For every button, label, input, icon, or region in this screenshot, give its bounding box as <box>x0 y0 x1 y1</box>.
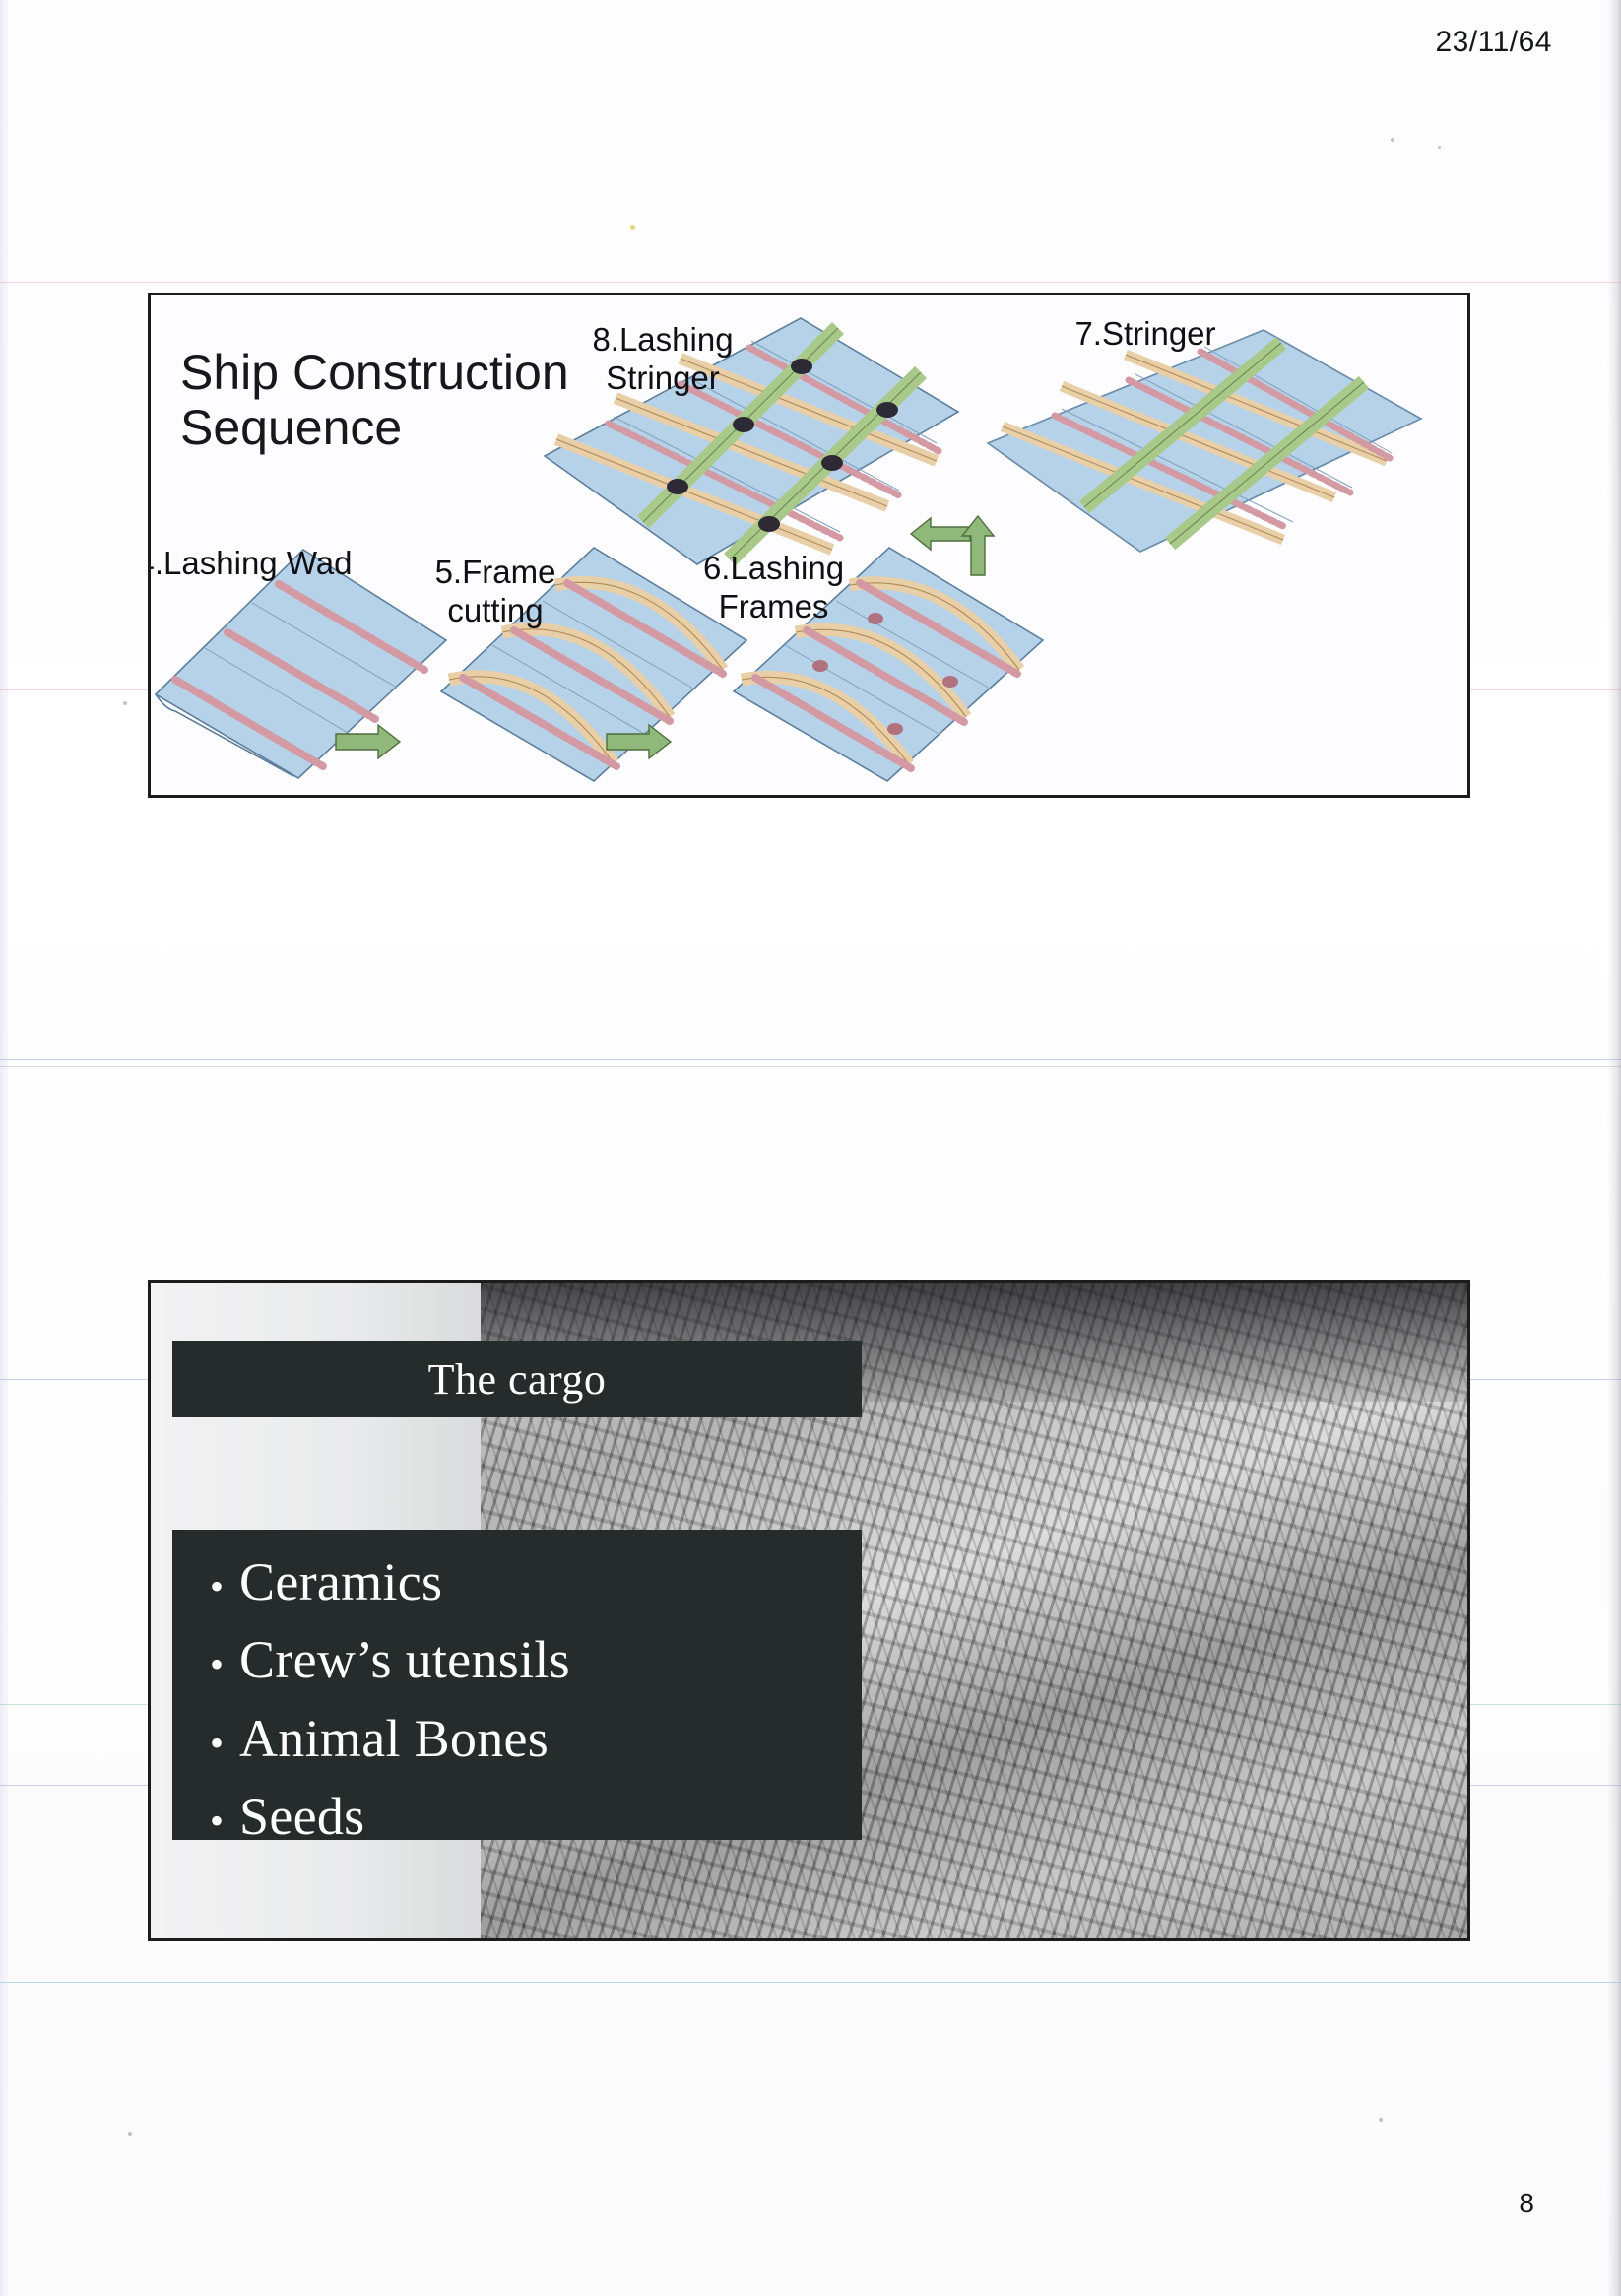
list-item: • Seeds <box>172 1782 862 1852</box>
list-item-label: Ceramics <box>239 1547 442 1617</box>
scanned-page: 23/11/64 Ship Construction Sequence <box>0 0 1621 2296</box>
slide-title-bar: The cargo <box>172 1341 862 1417</box>
date-stamp: 23/11/64 <box>1435 26 1552 59</box>
list-item-label: Seeds <box>239 1782 364 1852</box>
scan-speck <box>1438 146 1441 149</box>
bullet-icon: • <box>194 1645 239 1684</box>
guide-line <box>0 1982 1621 1983</box>
list-item: • Crew’s utensils <box>172 1625 862 1695</box>
arrow-right-icon <box>604 721 673 762</box>
step-label-7: 7.Stringer <box>1042 315 1249 354</box>
guide-line <box>0 282 1621 283</box>
arrow-right-icon <box>333 721 402 762</box>
cargo-bullet-list: • Ceramics • Crew’s utensils • Animal Bo… <box>172 1530 862 1840</box>
guide-line <box>0 1066 1621 1067</box>
bullet-icon: • <box>194 1802 239 1841</box>
page-number: 8 <box>1519 2188 1534 2219</box>
scan-speck <box>1391 138 1394 142</box>
bullet-icon: • <box>194 1567 239 1607</box>
step-label-6: 6.Lashing Frames <box>663 550 884 626</box>
list-item: • Ceramics <box>172 1547 862 1617</box>
scan-speck <box>630 225 635 230</box>
page-edge-right <box>1607 0 1621 2296</box>
bullet-icon: • <box>194 1724 239 1763</box>
scan-speck <box>123 701 127 705</box>
slide-ship-construction-sequence: Ship Construction Sequence <box>148 293 1470 798</box>
slide-title: The cargo <box>428 1354 607 1405</box>
scan-speck <box>1379 2118 1383 2122</box>
scan-speck <box>128 2132 132 2136</box>
arrow-up-icon <box>894 520 895 521</box>
list-item-label: Crew’s utensils <box>239 1625 570 1695</box>
step-label-4: 4.Lashing Wad <box>148 545 357 583</box>
list-item: • Animal Bones <box>172 1704 862 1774</box>
step-label-5: 5.Frame cutting <box>397 554 594 630</box>
step-label-8: 8.Lashing Stringer <box>559 321 766 398</box>
page-edge-left <box>0 0 6 2296</box>
slide-the-cargo: The cargo • Ceramics • Crew’s utensils •… <box>148 1280 1470 1941</box>
list-item-label: Animal Bones <box>239 1704 549 1774</box>
guide-line <box>0 1059 1621 1060</box>
